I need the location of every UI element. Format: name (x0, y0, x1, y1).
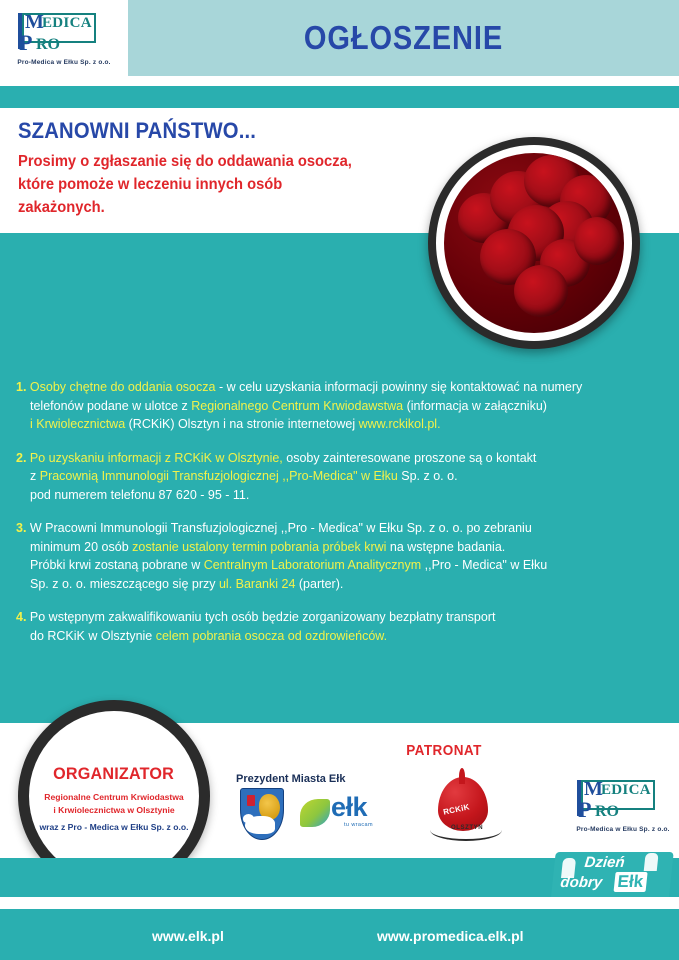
dzien-dobry-line-3: Ełk (614, 872, 648, 892)
footer-link-elk[interactable]: www.elk.pl (152, 928, 224, 944)
elk-logo-tagline: tu wracam (344, 822, 373, 828)
list-item-line: z Pracownią Immunologii Transfuzjologicz… (16, 467, 666, 486)
organizer-badge-inner: ORGANIZATOR Regionalne Centrum Krwiodast… (29, 711, 199, 881)
intro-lines: Prosimy o zgłaszanie się do oddawania os… (18, 150, 418, 219)
list-item: 1. Osoby chętne do oddania osocza - w ce… (16, 378, 666, 434)
prezydent-label: Prezydent Miasta Ełk (236, 773, 345, 785)
address-text: ul. Baranki 24 (219, 577, 295, 591)
page-title: OGŁOSZENIE (161, 0, 646, 76)
text-span: Pracownią Immunologii Transfuzjologiczne… (40, 469, 398, 483)
elk-leaf-icon (300, 799, 330, 827)
list-item-number: 4. (16, 610, 26, 624)
intro-line: Prosimy o zgłaszanie się do oddawania os… (18, 150, 398, 173)
text-span: (parter). (295, 577, 343, 591)
text-span: Osoby chętne do oddania osocza (26, 380, 215, 394)
list-item-line: i Krwiolecznictwa (RCKiK) Olsztyn i na s… (16, 415, 666, 434)
intro-heading: SZANOWNI PAŃSTWO... (18, 118, 256, 144)
list-item: 2. Po uzyskaniu informacji z RCKiK w Ols… (16, 449, 666, 505)
list-item-line: minimum 20 osób zostanie ustalony termin… (16, 538, 666, 557)
rckik-logo: RCKiK OLSZTYN (428, 775, 504, 843)
list-item-line: 3. W Pracowni Immunologii Transfuzjologi… (16, 519, 666, 538)
list-item-line: do RCKiK w Olsztynie celem pobrania osoc… (16, 627, 666, 646)
list-item-line: 4. Po wstępnym zakwalifikowaniu tych osó… (16, 608, 666, 627)
list-item: 3. W Pracowni Immunologii Transfuzjologi… (16, 519, 666, 593)
footer-band-upper: Dzień dobry Ełk (0, 858, 679, 897)
header-teal-rule (0, 86, 679, 108)
list-item-number: 2. (16, 451, 26, 465)
shield-shape (240, 788, 284, 840)
header-promedica-logo: M EDICA P RO Pro-Medica w Ełku Sp. z o.o… (0, 0, 128, 76)
phone-number: pod numerem telefonu 87 620 - 95 - 11. (30, 488, 249, 502)
promedica-text-edica: EDICA (42, 16, 92, 31)
organizer-line-2: i Krwiolecznictwa w Olsztynie (53, 804, 174, 817)
text-span: Próbki krwi zostaną pobrane w (30, 558, 204, 572)
text-span: z (30, 469, 40, 483)
promedica-mark: M EDICA P RO (575, 778, 671, 822)
instruction-list: 1. Osoby chętne do oddania osocza - w ce… (16, 378, 666, 660)
text-span: minimum 20 osób (30, 540, 132, 554)
footer-gap (0, 897, 679, 909)
text-span: osoby zainteresowane proszone są o konta… (283, 451, 537, 465)
stag-body-shape (245, 816, 275, 834)
text-span: do RCKiK w Olsztynie (30, 629, 156, 643)
text-span: zostanie ustalony termin pobrania próbek… (132, 540, 386, 554)
intro-line: zakażonych. (18, 196, 398, 219)
promedica-caption: Pro-Medica w Ełku Sp. z o.o. (17, 59, 110, 66)
list-item-line: 2. Po uzyskaniu informacji z RCKiK w Ols… (16, 449, 666, 468)
tower-shape (247, 795, 255, 806)
text-span: Po wstępnym zakwalifikowaniu tych osób b… (26, 610, 495, 624)
intro-line: które pomoże w leczeniu innych osób (18, 173, 398, 196)
organizer-line-1: Regionalne Centrum Krwiodastwa (44, 791, 183, 804)
website-link[interactable]: www.rckikol.pl. (359, 417, 441, 431)
elk-city-logo: ełk tu wracam (300, 793, 392, 835)
announcement-poster: M EDICA P RO Pro-Medica w Ełku Sp. z o.o… (0, 0, 679, 960)
text-span: - w celu uzyskania informacji powinny si… (215, 380, 582, 394)
red-blood-cell (574, 217, 620, 265)
patronage-label: PATRONAT (406, 742, 482, 759)
promedica-letter-p: P (578, 799, 591, 821)
footer-band-lower (0, 909, 679, 960)
red-blood-cell (514, 265, 568, 317)
list-item-line: 1. Osoby chętne do oddania osocza - w ce… (16, 378, 666, 397)
rckik-logo-city: OLSZTYN (451, 825, 483, 831)
promedica-caption: Pro-Medica w Ełku Sp. z o.o. (576, 826, 669, 833)
text-span: W Pracowni Immunologii Transfuzjologiczn… (26, 521, 531, 535)
text-span: telefonów podane w ulotce z (30, 399, 191, 413)
text-span: na wstępne badania. (386, 540, 505, 554)
footer-promedica-logo: M EDICA P RO Pro-Medica w Ełku Sp. z o.o… (575, 778, 671, 833)
text-span: (RCKiK) Olsztyn i na stronie internetowe… (125, 417, 358, 431)
promedica-text-edica: EDICA (601, 783, 651, 798)
text-span: Centralnym Laboratorium Analitycznym (204, 558, 421, 572)
elk-coat-of-arms-icon (240, 788, 284, 840)
promedica-text-ro: RO (36, 37, 60, 53)
organizer-title: ORGANIZATOR (54, 764, 175, 784)
text-span: Regionalnego Centrum Krwiodawstwa (191, 399, 403, 413)
blood-plasma (444, 153, 624, 333)
text-span: Po uzyskaniu informacji z RCKiK w Olszty… (26, 451, 282, 465)
figure-silhouette-icon (644, 853, 659, 871)
text-span: celem pobrania osocza od ozdrowieńców. (156, 629, 387, 643)
promedica-letter-p: P (19, 32, 32, 54)
list-item-number: 3. (16, 521, 26, 535)
text-span: (informacja w załączniku) (403, 399, 547, 413)
list-item-line: telefonów podane w ulotce z Regionalnego… (16, 397, 666, 416)
list-item-line: Próbki krwi zostaną pobrane w Centralnym… (16, 556, 666, 575)
text-span: Sp. z o. o. mieszczącego się przy (30, 577, 219, 591)
footer-link-promedica[interactable]: www.promedica.elk.pl (377, 928, 524, 944)
list-item-line: pod numerem telefonu 87 620 - 95 - 11. (16, 486, 666, 505)
text-span: Sp. z o. o. (398, 469, 458, 483)
list-item: 4. Po wstępnym zakwalifikowaniu tych osó… (16, 608, 666, 645)
text-span: ,,Pro - Medica" w Ełku (421, 558, 547, 572)
list-item-number: 1. (16, 380, 26, 394)
list-item-line: Sp. z o. o. mieszczącego się przy ul. Ba… (16, 575, 666, 594)
text-span: i Krwiolecznictwa (30, 417, 125, 431)
blood-cells-image (428, 137, 640, 349)
dzien-dobry-line-1: Dzień (584, 854, 626, 871)
promedica-mark: M EDICA P RO (16, 11, 112, 55)
organizer-line-3: wraz z Pro - Medica w Ełku Sp. z o.o. (40, 822, 189, 832)
dzien-dobry-line-2: dobry (560, 874, 603, 891)
promedica-text-ro: RO (595, 804, 619, 820)
elk-logo-word: ełk (331, 793, 367, 822)
body-section: 1. Osoby chętne do oddania osocza - w ce… (0, 233, 679, 723)
